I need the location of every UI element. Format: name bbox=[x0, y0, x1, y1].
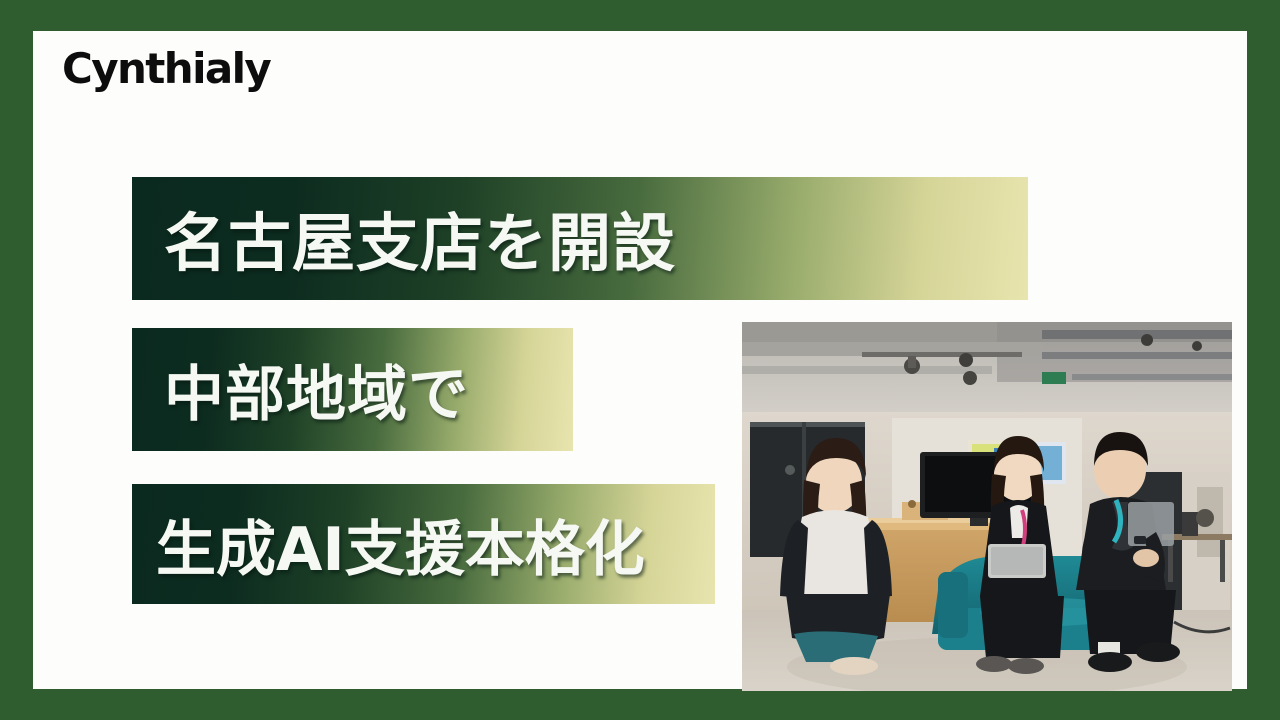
slide-root: Cynthialy 名古屋支店を開設 中部地域で 生成AI支援本格化 bbox=[0, 0, 1280, 720]
office-photo-illustration bbox=[742, 322, 1232, 691]
headline-bar-1: 名古屋支店を開設 bbox=[132, 177, 1028, 300]
company-logo: Cynthialy bbox=[62, 48, 270, 90]
headline-bar-2: 中部地域で bbox=[132, 328, 573, 451]
headline-text-2: 中部地域で bbox=[164, 346, 469, 433]
headline-bar-3: 生成AI支援本格化 bbox=[132, 484, 715, 604]
office-photo bbox=[742, 322, 1232, 691]
headline-text-1: 名古屋支店を開設 bbox=[164, 193, 676, 284]
headline-text-3: 生成AI支援本格化 bbox=[156, 501, 645, 588]
white-card: Cynthialy 名古屋支店を開設 中部地域で 生成AI支援本格化 bbox=[33, 31, 1247, 689]
